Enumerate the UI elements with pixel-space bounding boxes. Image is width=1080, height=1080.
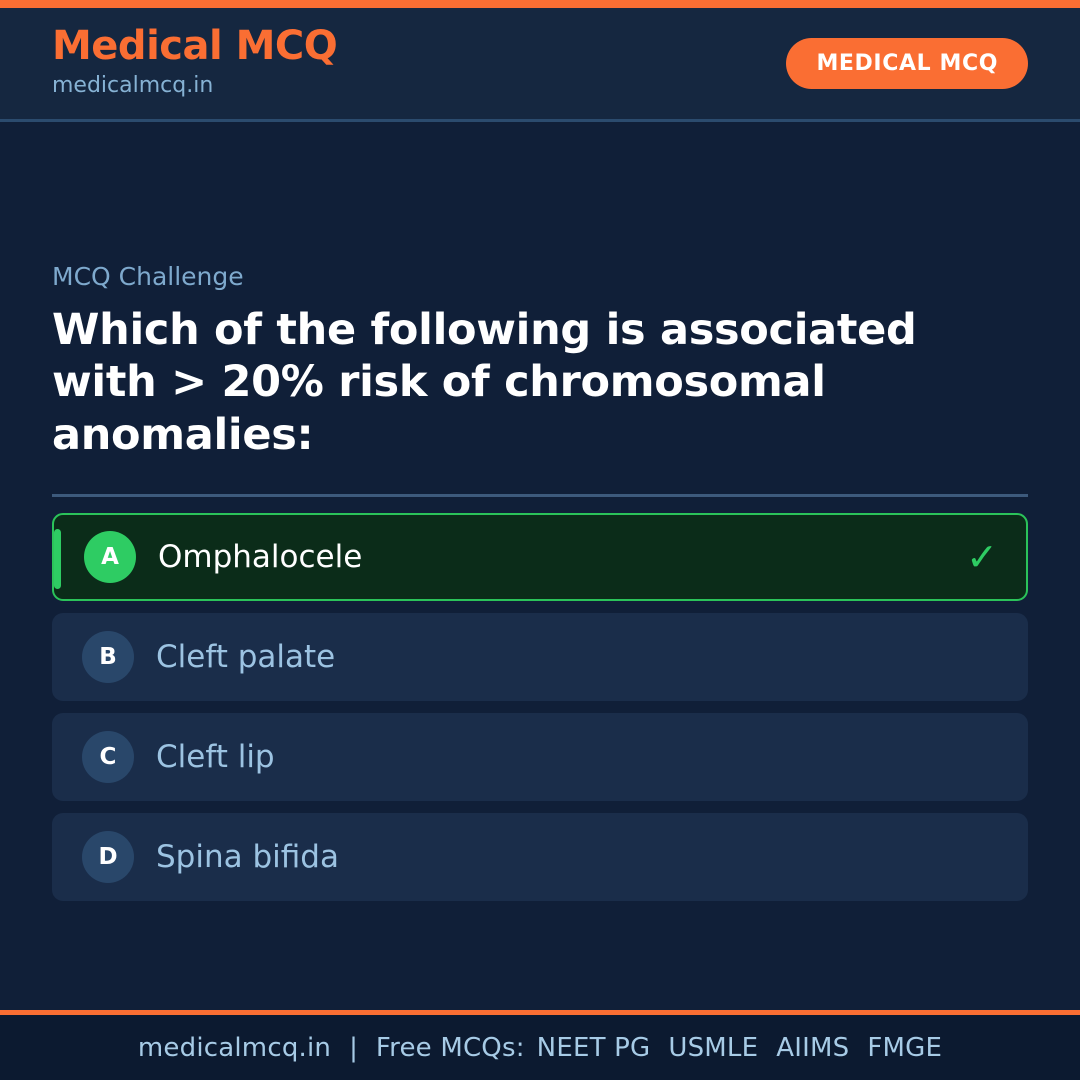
header-bar: Medical MCQ medicalmcq.in MEDICAL MCQ [0,8,1080,122]
option-row-d[interactable]: D Spina bifida [52,813,1028,901]
correct-check-icon: ✓ [966,538,998,576]
mcq-card: Medical MCQ medicalmcq.in MEDICAL MCQ MC… [0,0,1080,1080]
content-area: MCQ Challenge Which of the following is … [0,122,1080,1010]
brand-subtitle: medicalmcq.in [52,69,337,102]
option-row-c[interactable]: C Cleft lip [52,713,1028,801]
option-badge-c: C [82,731,134,783]
footer-exam-neet-pg: NEET PG [537,1033,651,1063]
option-row-b[interactable]: B Cleft palate [52,613,1028,701]
header-badge: MEDICAL MCQ [786,38,1028,89]
option-row-a[interactable]: A Omphalocele ✓ [52,513,1028,601]
brand-title: Medical MCQ [52,25,337,67]
option-badge-d: D [82,831,134,883]
kicker-label: MCQ Challenge [52,262,1028,292]
option-badge-b: B [82,631,134,683]
option-label-c: Cleft lip [156,740,275,774]
top-accent-rule [0,0,1080,8]
footer-site: medicalmcq.in [138,1033,331,1063]
question-text: Which of the following is associated wit… [52,304,952,461]
brand-block: Medical MCQ medicalmcq.in [52,25,337,102]
footer-bar: medicalmcq.in | Free MCQs: NEET PG USMLE… [0,1010,1080,1080]
footer-free-label: Free MCQs: [376,1033,525,1063]
footer-exam-fmge: FMGE [867,1033,942,1063]
options-list: A Omphalocele ✓ B Cleft palate C Cleft l… [52,513,1028,901]
option-badge-a: A [84,531,136,583]
footer-exam-tags: NEET PG USMLE AIIMS FMGE [537,1033,942,1063]
option-label-d: Spina bifida [156,840,339,874]
footer-exam-usmle: USMLE [668,1033,758,1063]
footer-exam-aiims: AIIMS [776,1033,849,1063]
footer-separator: | [331,1033,376,1063]
question-divider [52,494,1028,497]
option-label-a: Omphalocele [158,540,362,574]
option-label-b: Cleft palate [156,640,335,674]
correct-accent-bar [54,529,61,589]
